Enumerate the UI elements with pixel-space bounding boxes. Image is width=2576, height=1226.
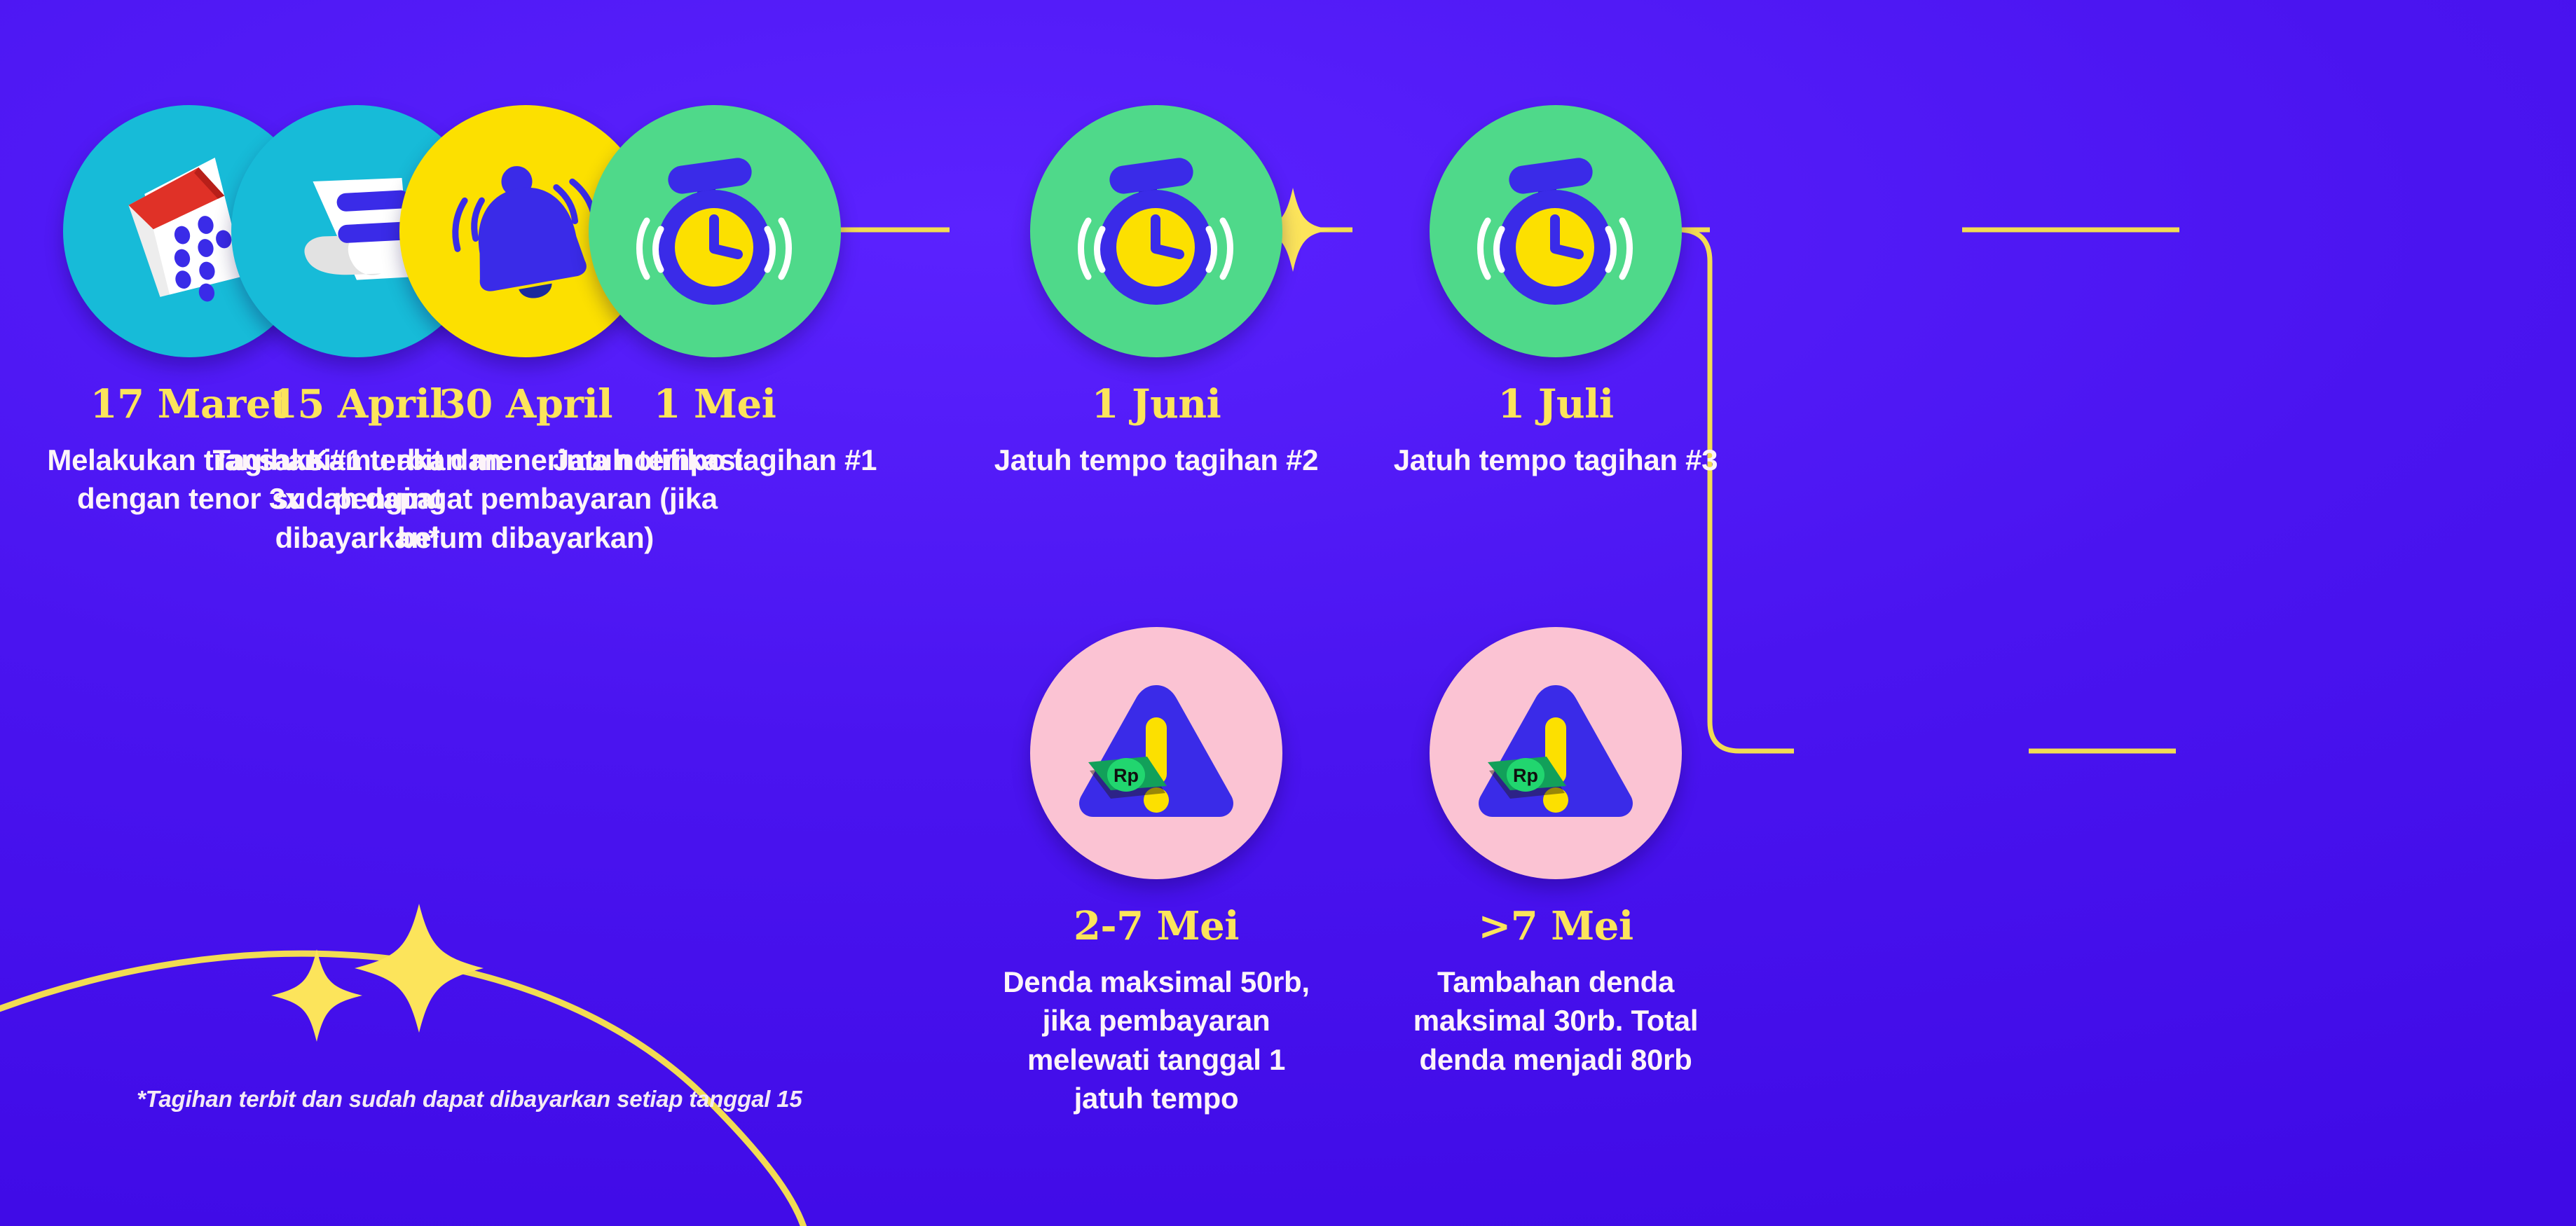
node-4-caption: 1 Mei Jatuh tempo tagihan #1 [550, 384, 879, 479]
node-5-caption: 1 Juni Jatuh tempo tagihan #2 [992, 384, 1321, 479]
bell-notification-icon [441, 147, 610, 315]
node-5-desc: Jatuh tempo tagihan #2 [992, 441, 1321, 479]
penalty-1-disc: Rp [1030, 627, 1282, 879]
node-4-disc [589, 105, 841, 357]
money-label: Rp [1513, 765, 1538, 786]
alarm-clock-icon [627, 144, 802, 319]
footnote-text: *Tagihan terbit dan sudah dapat dibayark… [137, 1086, 802, 1113]
penalty-2-caption: >7 Mei Tambahan denda maksimal 30rb. Tot… [1391, 906, 1720, 1079]
timeline-top-row: 17 Maret Melakukan transaksi dengan teno… [0, 0, 2576, 701]
alarm-clock-icon [1069, 144, 1244, 319]
timeline-node-6[interactable]: 1 Juli Jatuh tempo tagihan #3 [1366, 105, 1745, 479]
alarm-clock-icon [1468, 144, 1643, 319]
timeline-node-penalty-2[interactable]: Rp >7 Mei Tambahan denda maksimal 30rb. … [1366, 627, 1745, 1079]
timeline-node-5[interactable]: 1 Juni Jatuh tempo tagihan #2 [967, 105, 1345, 479]
penalty-1-caption: 2-7 Mei Denda maksimal 50rb, jika pembay… [992, 906, 1321, 1118]
node-6-caption: 1 Juli Jatuh tempo tagihan #3 [1391, 384, 1720, 479]
node-6-disc [1430, 105, 1682, 357]
node-5-date: 1 Juni [992, 384, 1321, 425]
node-6-date: 1 Juli [1391, 384, 1720, 425]
infographic-canvas: 17 Maret Melakukan transaksi dengan teno… [0, 0, 2576, 1226]
node-6-desc: Jatuh tempo tagihan #3 [1391, 441, 1720, 479]
sparkle-small [271, 949, 362, 1042]
money-label: Rp [1114, 765, 1139, 786]
timeline-node-penalty-1[interactable]: Rp 2-7 Mei Denda maksimal 50rb, jika pem… [967, 627, 1345, 1118]
penalty-2-date: >7 Mei [1391, 906, 1720, 947]
penalty-1-date: 2-7 Mei [992, 906, 1321, 947]
penalty-2-desc: Tambahan denda maksimal 30rb. Total dend… [1391, 963, 1720, 1079]
warning-money-icon: Rp [1069, 666, 1244, 841]
node-4-desc: Jatuh tempo tagihan #1 [550, 441, 879, 479]
warning-money-icon: Rp [1468, 666, 1643, 841]
node-5-disc [1030, 105, 1282, 357]
penalty-2-disc: Rp [1430, 627, 1682, 879]
penalty-1-desc: Denda maksimal 50rb, jika pembayaran mel… [992, 963, 1321, 1118]
node-4-date: 1 Mei [550, 384, 879, 425]
sparkle-large [355, 904, 484, 1033]
